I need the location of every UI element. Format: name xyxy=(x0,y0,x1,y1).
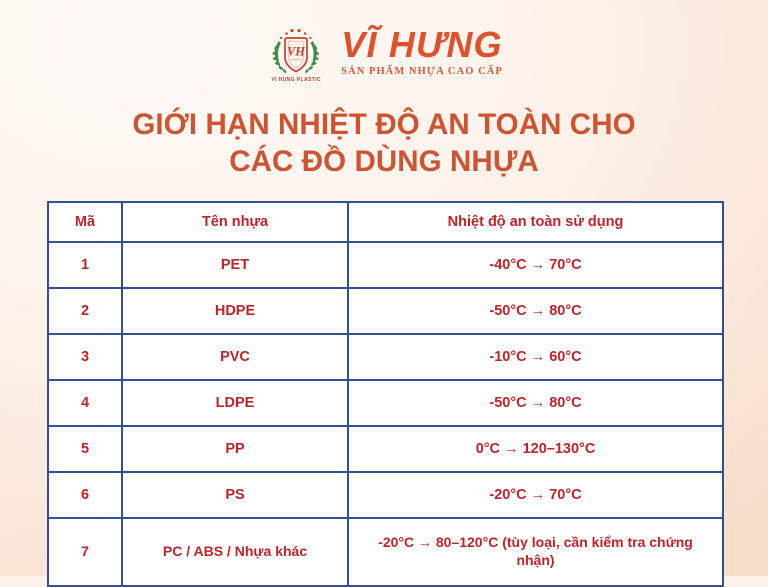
table-header-row: Mã Tên nhựa Nhiệt độ an toàn sử dụng xyxy=(48,202,723,242)
page-title-line-1: GIỚI HẠN NHIỆT ĐỘ AN TOÀN CHO xyxy=(0,106,768,143)
cell-name: PET xyxy=(122,242,348,288)
table-row: 3 PVC -10°C → 60°C xyxy=(48,334,723,380)
cell-code: 6 xyxy=(48,472,122,518)
cell-temp: -20°C → 70°C xyxy=(348,472,723,518)
wordmark-tagline: SẢN PHẨM NHỰA CAO CẤP xyxy=(341,66,503,77)
cell-name: PVC xyxy=(122,334,348,380)
cell-code: 5 xyxy=(48,426,122,472)
cell-code: 1 xyxy=(48,242,122,288)
cell-name: HDPE xyxy=(122,288,348,334)
cell-name: LDPE xyxy=(122,380,348,426)
table-row: 4 LDPE -50°C → 80°C xyxy=(48,380,723,426)
table-header: Mã Tên nhựa Nhiệt độ an toàn sử dụng xyxy=(48,202,723,242)
cell-temp: -40°C → 70°C xyxy=(348,242,723,288)
table-body: 1 PET -40°C → 70°C 2 HDPE -50°C → 80°C 3… xyxy=(48,242,723,586)
table-row: 5 PP 0°C → 120–130°C xyxy=(48,426,723,472)
emblem-caption: VI HUNG PLASTIC xyxy=(265,77,327,83)
cell-name: PP xyxy=(122,426,348,472)
plastic-temperature-table-wrapper: Mã Tên nhựa Nhiệt độ an toàn sử dụng 1 P… xyxy=(47,201,722,587)
table-row: 6 PS -20°C → 70°C xyxy=(48,472,723,518)
cell-temp: 0°C → 120–130°C xyxy=(348,426,723,472)
cell-temp: -50°C → 80°C xyxy=(348,288,723,334)
table-row: 1 PET -40°C → 70°C xyxy=(48,242,723,288)
cell-name: PS xyxy=(122,472,348,518)
page-title-line-2: CÁC ĐỒ DÙNG NHỰA xyxy=(0,143,768,180)
cell-code: 2 xyxy=(48,288,122,334)
svg-text:VH: VH xyxy=(287,45,306,59)
cell-temp: -50°C → 80°C xyxy=(348,380,723,426)
vi-hung-emblem-icon: VH VI HUNG PLASTIC xyxy=(265,24,327,82)
page-title: GIỚI HẠN NHIỆT ĐỘ AN TOÀN CHO CÁC ĐỒ DÙN… xyxy=(0,106,768,181)
cell-temp: -10°C → 60°C xyxy=(348,334,723,380)
brand-header: VH VI HUNG PLASTIC VĨ HƯNG SẢN PHẨM NHỰA… xyxy=(0,22,768,84)
cell-code: 3 xyxy=(48,334,122,380)
column-header-code: Mã xyxy=(48,202,122,242)
wordmark-title: VĨ HƯNG xyxy=(341,27,503,64)
cell-code: 4 xyxy=(48,380,122,426)
table-row: 2 HDPE -50°C → 80°C xyxy=(48,288,723,334)
wordmark: VĨ HƯNG SẢN PHẨM NHỰA CAO CẤP xyxy=(341,27,503,79)
column-header-name: Tên nhựa xyxy=(122,202,348,242)
poster-canvas: VH VI HUNG PLASTIC VĨ HƯNG SẢN PHẨM NHỰA… xyxy=(0,0,768,576)
column-header-temp: Nhiệt độ an toàn sử dụng xyxy=(348,202,723,242)
plastic-temperature-table: Mã Tên nhựa Nhiệt độ an toàn sử dụng 1 P… xyxy=(47,201,724,587)
